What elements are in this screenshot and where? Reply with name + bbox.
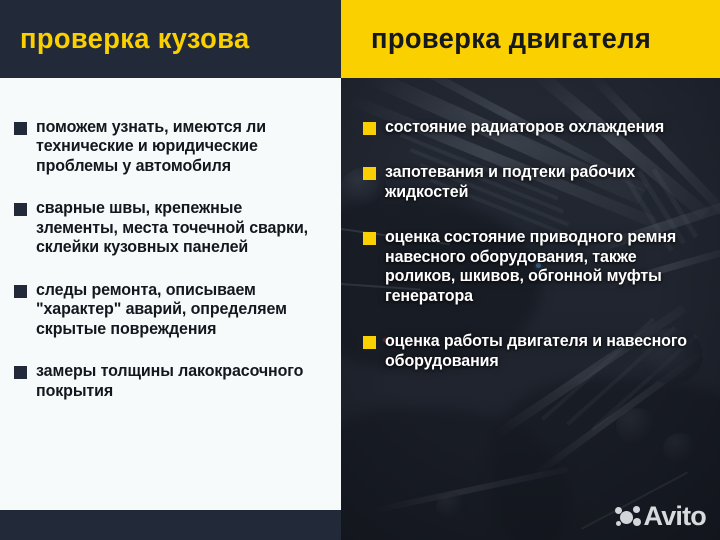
list-item-label: состояние радиаторов охлаждения	[385, 118, 664, 137]
list-item-label: замеры толщины лакокрасочного покрытия	[36, 362, 314, 401]
list-item-label: сварные швы, крепежные злементы, места т…	[36, 199, 314, 257]
list-item-label: запотевания и подтеки рабочих жидкостей	[385, 163, 698, 202]
left-checklist: поможем узнать, имеются ли технические и…	[0, 118, 341, 424]
list-item: оценка состояние приводного ремня навесн…	[363, 228, 708, 306]
avito-logo: Avito	[615, 503, 707, 530]
bullet-square-icon	[14, 366, 27, 379]
bullet-square-icon	[363, 336, 376, 349]
poster-root: проверка кузова проверка двигателя помож…	[0, 0, 720, 540]
bullet-square-icon	[363, 232, 376, 245]
list-item: следы ремонта, описываем "характер" авар…	[14, 281, 323, 339]
list-item-label: следы ремонта, описываем "характер" авар…	[36, 281, 314, 339]
avito-dots-icon	[615, 506, 641, 528]
avito-wordmark: Avito	[644, 503, 707, 530]
right-header-bar: проверка двигателя	[341, 0, 720, 78]
bullet-square-icon	[363, 167, 376, 180]
right-header-title: проверка двигателя	[371, 25, 651, 54]
list-item: состояние радиаторов охлаждения	[363, 118, 708, 137]
list-item: поможем узнать, имеются ли технические и…	[14, 118, 323, 176]
right-checklist: состояние радиаторов охлаждения запотева…	[341, 118, 720, 397]
bullet-square-icon	[363, 122, 376, 135]
list-item: сварные швы, крепежные злементы, места т…	[14, 199, 323, 257]
list-item: оценка работы двигателя и навесного обор…	[363, 332, 708, 371]
list-item: замеры толщины лакокрасочного покрытия	[14, 362, 323, 401]
left-header-title: проверка кузова	[20, 25, 250, 54]
bullet-square-icon	[14, 285, 27, 298]
bullet-square-icon	[14, 203, 27, 216]
list-item-label: оценка работы двигателя и навесного обор…	[385, 332, 698, 371]
list-item-label: поможем узнать, имеются ли технические и…	[36, 118, 314, 176]
left-panel-bottom-strip	[0, 510, 341, 540]
list-item-label: оценка состояние приводного ремня навесн…	[385, 228, 698, 306]
bullet-square-icon	[14, 122, 27, 135]
list-item: запотевания и подтеки рабочих жидкостей	[363, 163, 708, 202]
left-header-bar: проверка кузова	[0, 0, 341, 78]
